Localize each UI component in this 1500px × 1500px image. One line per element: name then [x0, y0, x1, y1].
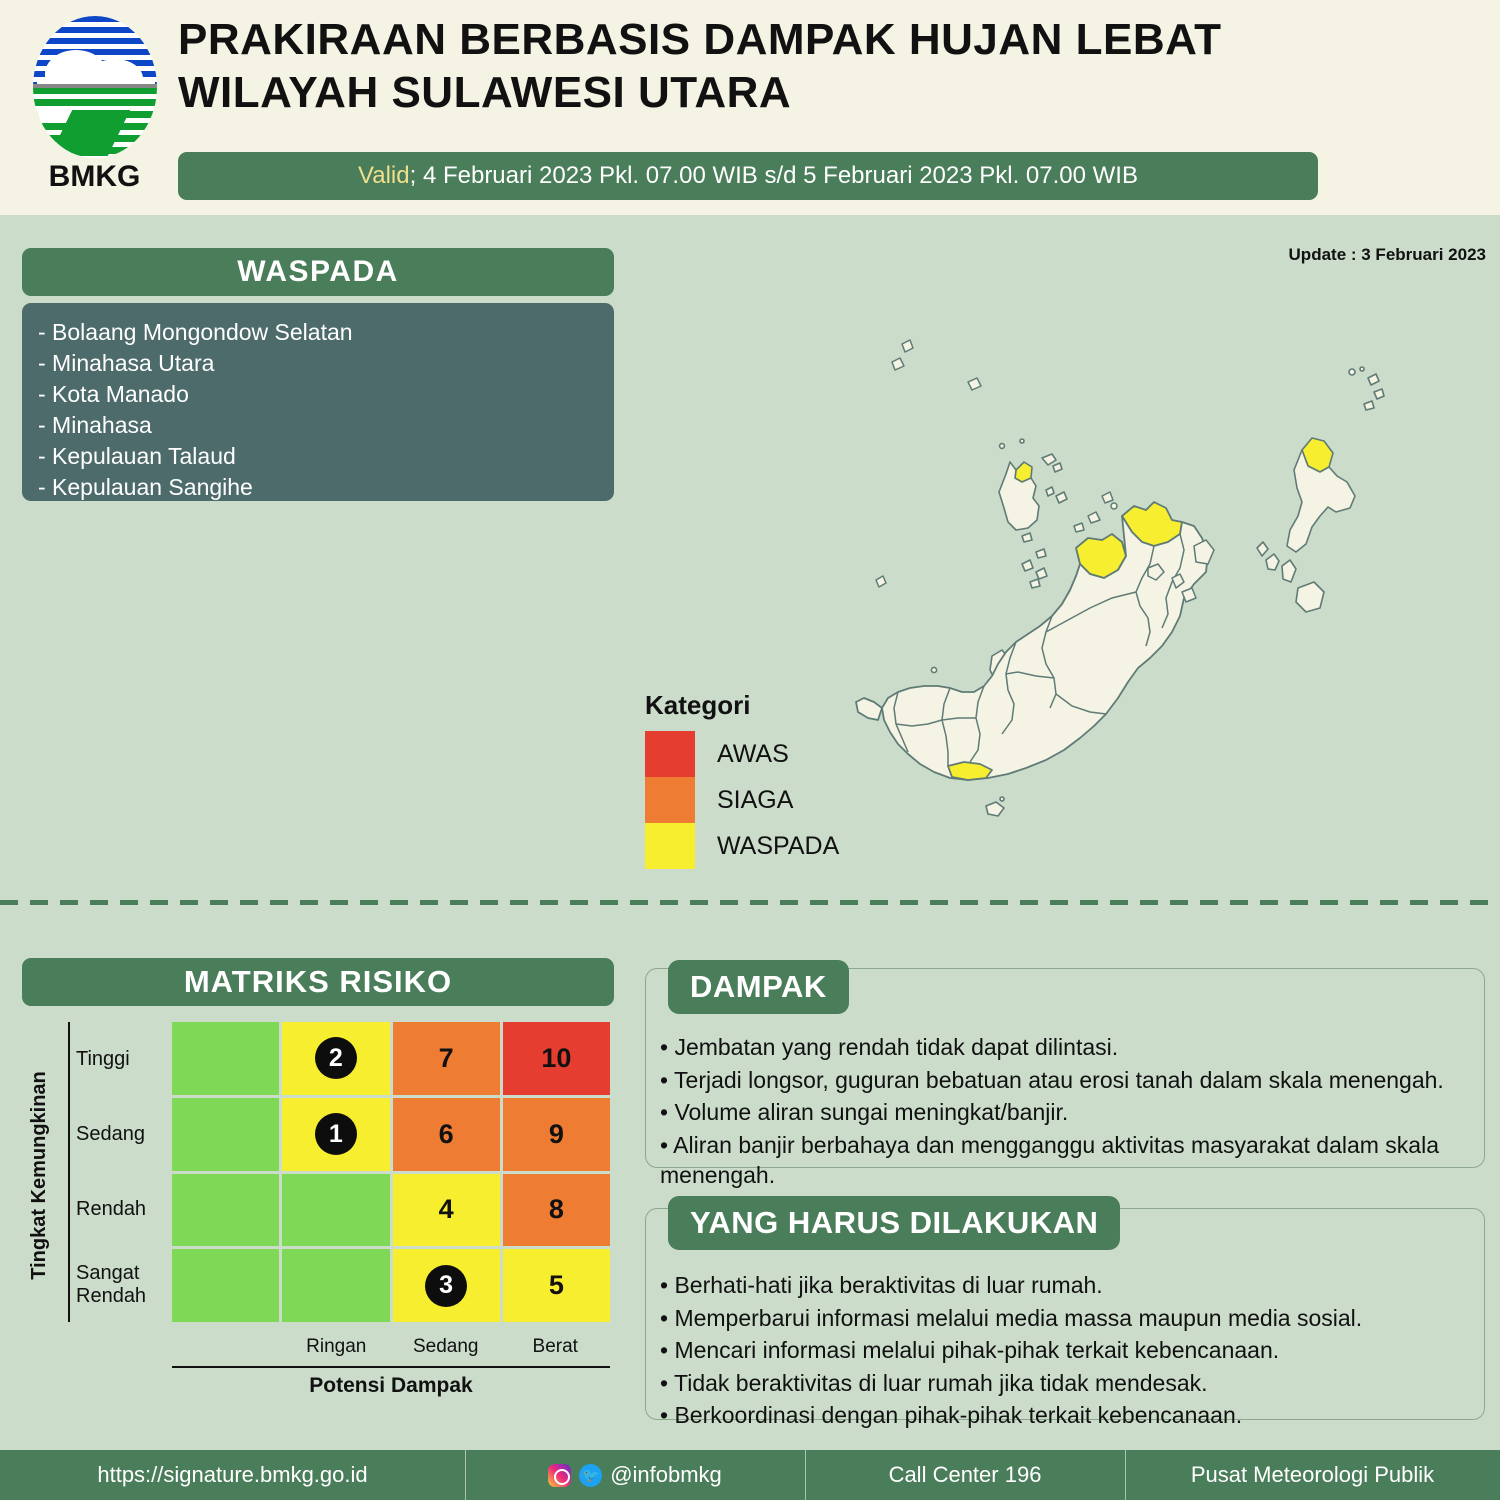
legend-item-awas: AWAS	[645, 731, 905, 777]
legend-swatch-waspada	[645, 823, 695, 869]
kategori-legend: Kategori AWAS SIAGA WASPADA	[645, 690, 905, 869]
matrix-col-label-ringan: Ringan	[282, 1330, 392, 1364]
list-item: • Berhati-hati jika beraktivitas di luar…	[660, 1270, 1472, 1301]
legend-swatch-siaga	[645, 777, 695, 823]
risk-matrix-grid: 27101694835	[172, 1022, 610, 1322]
matrix-row-label-rendah: Rendah	[76, 1172, 168, 1247]
matrix-cell-r2-c2: 1	[282, 1098, 389, 1171]
waspada-panel-header: WASPADA	[22, 248, 614, 296]
matrix-cell-r3-c1	[172, 1174, 279, 1247]
list-item: • Berkoordinasi dengan pihak-pihak terka…	[660, 1400, 1472, 1431]
list-item: • Jembatan yang rendah tidak dapat dilin…	[660, 1032, 1472, 1063]
page-header: BMKG PRAKIRAAN BERBASIS DAMPAK HUJAN LEB…	[0, 0, 1500, 215]
matrix-cell-r3-c4: 8	[503, 1174, 610, 1247]
legend-label-awas: AWAS	[717, 740, 789, 769]
matrix-cell-r4-c4: 5	[503, 1249, 610, 1322]
legend-swatch-awas	[645, 731, 695, 777]
list-item: - Minahasa Utara	[38, 348, 598, 379]
footer-social[interactable]: 🐦 @infobmkg	[465, 1450, 805, 1500]
waspada-title: WASPADA	[237, 255, 399, 289]
matrix-cell-r3-c2	[282, 1174, 389, 1247]
bmkg-logo-icon	[33, 16, 157, 158]
footer-call-center: Call Center 196	[805, 1450, 1125, 1500]
list-item: • Tidak beraktivitas di luar rumah jika …	[660, 1368, 1472, 1399]
matrix-cell-r1-c2: 2	[282, 1022, 389, 1095]
matrix-cell-r3-c3: 4	[393, 1174, 500, 1247]
matrix-row-label-tinggi: Tinggi	[76, 1022, 168, 1097]
footer-website[interactable]: https://signature.bmkg.go.id	[0, 1450, 465, 1500]
footer-unit: Pusat Meteorologi Publik	[1125, 1450, 1500, 1500]
matrix-badge-3: 3	[425, 1265, 467, 1307]
matrix-col-label-blank	[172, 1330, 282, 1364]
bmkg-logo: BMKG	[22, 16, 167, 196]
matrix-y-axis-label: Tingkat Kemungkinan	[22, 1030, 56, 1320]
matrix-badge-1: 1	[315, 1113, 357, 1155]
matrix-cell-r1-c3: 7	[393, 1022, 500, 1095]
instagram-icon[interactable]	[548, 1464, 571, 1487]
list-item: • Mencari informasi melalui pihak-pihak …	[660, 1335, 1472, 1366]
list-item: - Minahasa	[38, 410, 598, 441]
matrix-cell-r2-c3: 6	[393, 1098, 500, 1171]
matrix-cell-r2-c1	[172, 1098, 279, 1171]
dampak-title: DAMPAK	[690, 969, 827, 1005]
page-footer: https://signature.bmkg.go.id 🐦 @infobmkg…	[0, 1450, 1500, 1500]
tindakan-card-header: YANG HARUS DILAKUKAN	[668, 1196, 1120, 1250]
list-item: - Kepulauan Talaud	[38, 441, 598, 472]
matrix-y-axis-rule	[68, 1022, 70, 1322]
dampak-card-header: DAMPAK	[668, 960, 849, 1014]
list-item: • Volume aliran sungai meningkat/banjir.	[660, 1097, 1472, 1128]
matriks-title: MATRIKS RISIKO	[184, 964, 452, 1000]
dampak-list: • Jembatan yang rendah tidak dapat dilin…	[660, 1032, 1472, 1193]
legend-label-siaga: SIAGA	[717, 786, 793, 815]
list-item: • Terjadi longsor, guguran bebatuan atau…	[660, 1065, 1472, 1096]
matrix-row-label-sedang: Sedang	[76, 1097, 168, 1172]
twitter-icon[interactable]: 🐦	[579, 1464, 602, 1487]
title-line-1: PRAKIRAAN BERBASIS DAMPAK HUJAN LEBAT	[178, 14, 1358, 67]
title-line-2: WILAYAH SULAWESI UTARA	[178, 67, 1358, 120]
page-title: PRAKIRAAN BERBASIS DAMPAK HUJAN LEBAT WI…	[178, 14, 1358, 120]
matrix-col-label-sedang: Sedang	[391, 1330, 501, 1364]
matrix-row-label-sangat-rendah: SangatRendah	[76, 1247, 168, 1322]
section-divider	[0, 900, 1500, 905]
tindakan-list: • Berhati-hati jika beraktivitas di luar…	[660, 1270, 1472, 1433]
list-item: • Aliran banjir berbahaya dan mengganggu…	[660, 1130, 1472, 1191]
bmkg-logo-text: BMKG	[22, 160, 167, 194]
legend-label-waspada: WASPADA	[717, 832, 839, 861]
matriks-risiko-header: MATRIKS RISIKO	[22, 958, 614, 1006]
footer-social-handle: @infobmkg	[610, 1462, 722, 1488]
matrix-cell-r4-c3: 3	[393, 1249, 500, 1322]
tindakan-title: YANG HARUS DILAKUKAN	[690, 1205, 1098, 1241]
matrix-cell-r2-c4: 9	[503, 1098, 610, 1171]
valid-period: ; 4 Februari 2023 Pkl. 07.00 WIB s/d 5 F…	[410, 162, 1138, 189]
matrix-cell-r1-c4: 10	[503, 1022, 610, 1095]
matrix-badge-2: 2	[315, 1037, 357, 1079]
kategori-title: Kategori	[645, 690, 905, 721]
list-item: • Memperbarui informasi melalui media ma…	[660, 1303, 1472, 1334]
legend-item-siaga: SIAGA	[645, 777, 905, 823]
legend-item-waspada: WASPADA	[645, 823, 905, 869]
matrix-row-labels: Tinggi Sedang Rendah SangatRendah	[76, 1022, 168, 1322]
matrix-cell-r4-c1	[172, 1249, 279, 1322]
matrix-cell-r4-c2	[282, 1249, 389, 1322]
list-item: - Kota Manado	[38, 379, 598, 410]
update-timestamp: Update : 3 Februari 2023	[1289, 245, 1486, 265]
waspada-region-list: - Bolaang Mongondow Selatan - Minahasa U…	[22, 303, 614, 501]
valid-label: Valid	[358, 162, 410, 189]
matrix-col-label-berat: Berat	[501, 1330, 611, 1364]
matrix-column-labels: Ringan Sedang Berat	[172, 1330, 610, 1364]
matrix-x-axis-rule	[172, 1366, 610, 1368]
list-item: - Kepulauan Sangihe	[38, 472, 598, 503]
matrix-x-axis-label: Potensi Dampak	[172, 1374, 610, 1398]
list-item: - Bolaang Mongondow Selatan	[38, 317, 598, 348]
sulawesi-utara-map	[850, 320, 1490, 900]
matrix-cell-r1-c1	[172, 1022, 279, 1095]
validity-banner: Valid; 4 Februari 2023 Pkl. 07.00 WIB s/…	[178, 152, 1318, 200]
